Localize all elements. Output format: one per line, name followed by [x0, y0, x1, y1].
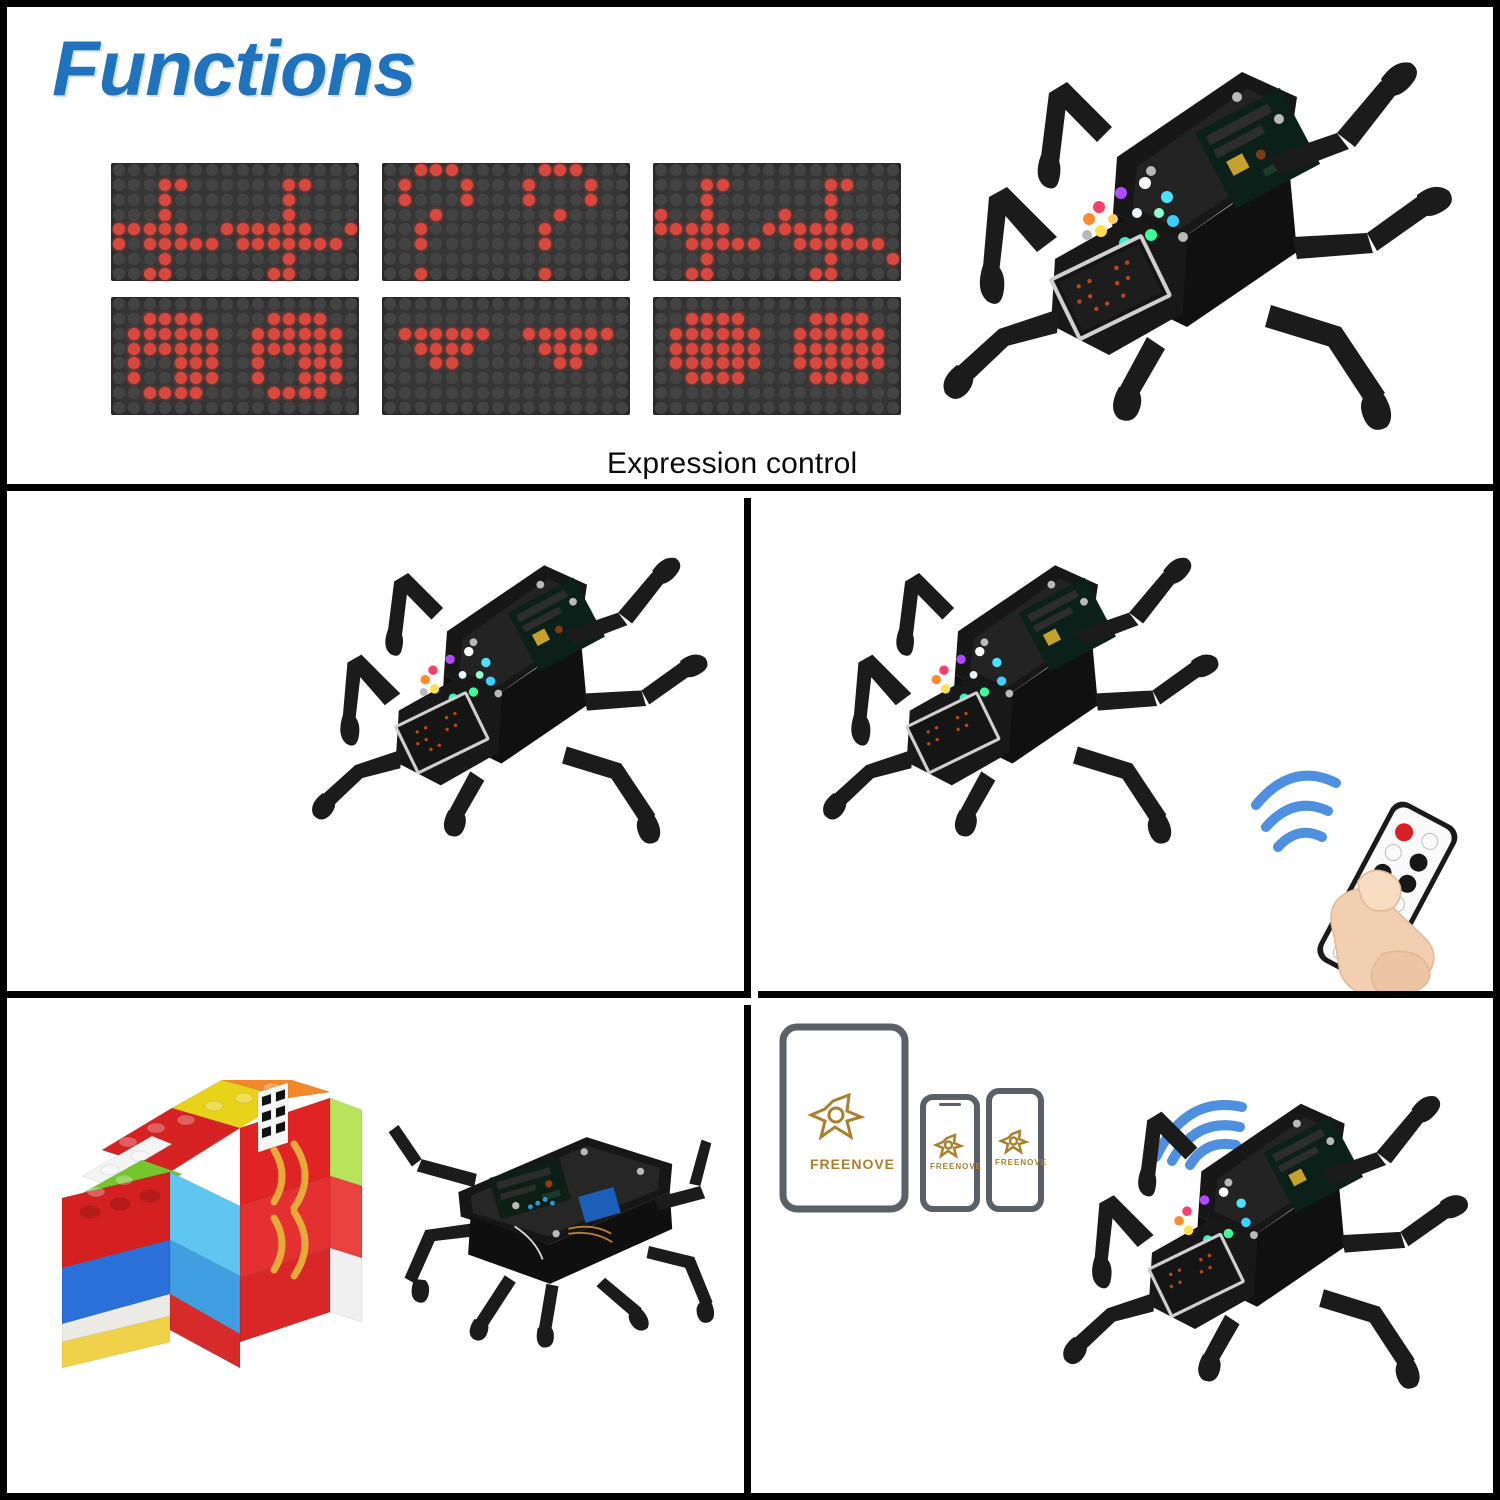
led-dot: [314, 313, 326, 325]
led-dot: [872, 253, 884, 265]
led-dot: [670, 328, 682, 340]
led-dot: [670, 194, 682, 206]
led-dot: [670, 387, 682, 399]
led-dot: [554, 372, 566, 384]
led-dot: [430, 194, 442, 206]
led-dot: [810, 238, 822, 250]
led-dot: [523, 298, 535, 310]
led-dot: [763, 194, 775, 206]
led-dot: [856, 253, 868, 265]
led-dot: [601, 313, 613, 325]
led-dot: [345, 238, 357, 250]
led-dot: [314, 343, 326, 355]
led-dot: [794, 402, 806, 414]
led-dot: [670, 343, 682, 355]
led-dot: [601, 238, 613, 250]
led-dot: [252, 268, 264, 280]
led-dot: [585, 209, 597, 221]
led-dot: [523, 402, 535, 414]
led-dot: [461, 194, 473, 206]
led-dot: [670, 253, 682, 265]
led-dot: [601, 298, 613, 310]
led-dot: [283, 298, 295, 310]
led-dot: [113, 357, 125, 369]
led-dot: [508, 164, 520, 176]
panel-obstacle-avoidance: Obstacle avoidance: [7, 1005, 751, 1493]
led-matrix-row: [111, 297, 359, 312]
led-dot: [616, 402, 628, 414]
led-matrix-row: [111, 327, 359, 342]
led-dot: [670, 209, 682, 221]
led-dot: [446, 194, 458, 206]
led-dot: [330, 238, 342, 250]
led-dot: [717, 253, 729, 265]
led-matrix-row: [653, 266, 901, 281]
led-dot: [585, 372, 597, 384]
led-dot: [252, 253, 264, 265]
led-dot: [701, 402, 713, 414]
led-dot: [175, 238, 187, 250]
led-dot: [446, 343, 458, 355]
led-matrix-row: [111, 400, 359, 415]
led-dot: [810, 372, 822, 384]
led-dot: [206, 268, 218, 280]
led-dot: [477, 343, 489, 355]
led-dot: [717, 268, 729, 280]
led-matrix-row: [382, 400, 630, 415]
led-dot: [190, 402, 202, 414]
led-dot: [701, 164, 713, 176]
led-dot: [872, 313, 884, 325]
led-dot: [585, 313, 597, 325]
led-dot: [159, 298, 171, 310]
led-dot: [430, 298, 442, 310]
led-dot: [399, 343, 411, 355]
led-dot: [237, 238, 249, 250]
led-dot: [144, 298, 156, 310]
led-dot: [461, 328, 473, 340]
led-dot: [477, 298, 489, 310]
led-dot: [252, 328, 264, 340]
led-dot: [523, 343, 535, 355]
led-dot: [144, 357, 156, 369]
led-dot: [206, 238, 218, 250]
led-dot: [221, 223, 233, 235]
led-dot: [461, 402, 473, 414]
led-matrix-grid: [111, 163, 901, 423]
led-dot: [523, 387, 535, 399]
led-dot: [779, 238, 791, 250]
led-dot: [554, 268, 566, 280]
led-dot: [554, 357, 566, 369]
led-dot: [492, 253, 504, 265]
led-dot: [794, 343, 806, 355]
led-dot: [717, 328, 729, 340]
led-dot: [221, 343, 233, 355]
led-dot: [601, 209, 613, 221]
led-dot: [686, 343, 698, 355]
led-dot: [570, 253, 582, 265]
led-dot: [144, 253, 156, 265]
led-dot: [268, 387, 280, 399]
led-dot: [717, 387, 729, 399]
led-dot: [237, 194, 249, 206]
led-dot: [523, 238, 535, 250]
led-matrix-row: [653, 178, 901, 193]
led-dot: [299, 268, 311, 280]
led-dot: [314, 372, 326, 384]
led-dot: [585, 253, 597, 265]
led-dot: [268, 313, 280, 325]
led-dot: [508, 223, 520, 235]
led-dot: [252, 223, 264, 235]
led-dot: [779, 209, 791, 221]
led-dot: [763, 343, 775, 355]
led-dot: [670, 164, 682, 176]
led-dot: [655, 194, 667, 206]
led-dot: [283, 343, 295, 355]
led-dot: [206, 402, 218, 414]
led-matrix-row: [653, 207, 901, 222]
led-dot: [159, 387, 171, 399]
led-dot: [508, 343, 520, 355]
led-dot: [841, 313, 853, 325]
led-dot: [446, 268, 458, 280]
led-dot: [190, 253, 202, 265]
led-dot: [779, 343, 791, 355]
led-matrix-row: [382, 163, 630, 178]
led-dot: [299, 253, 311, 265]
led-dot: [554, 328, 566, 340]
led-dot: [206, 223, 218, 235]
led-dot: [655, 328, 667, 340]
led-dot: [314, 328, 326, 340]
led-dot: [748, 179, 760, 191]
led-dot: [616, 343, 628, 355]
led-dot: [732, 223, 744, 235]
led-dot: [763, 387, 775, 399]
led-dot: [717, 313, 729, 325]
led-dot: [175, 298, 187, 310]
led-dot: [299, 164, 311, 176]
led-dot: [825, 268, 837, 280]
led-dot: [670, 357, 682, 369]
led-matrix-row: [653, 193, 901, 208]
led-dot: [190, 209, 202, 221]
led-dot: [748, 313, 760, 325]
led-dot: [701, 223, 713, 235]
led-matrix-row: [111, 163, 359, 178]
led-dot: [872, 328, 884, 340]
led-dot: [887, 209, 899, 221]
led-dot: [763, 298, 775, 310]
led-dot: [128, 164, 140, 176]
led-dot: [221, 298, 233, 310]
led-matrix-angry-eyes: [382, 297, 630, 415]
led-dot: [523, 223, 535, 235]
led-matrix-question-marks: [382, 163, 630, 281]
led-dot: [539, 179, 551, 191]
led-matrix-cross-eyes-1: [111, 163, 359, 281]
led-dot: [283, 179, 295, 191]
led-matrix-row: [653, 341, 901, 356]
led-dot: [492, 164, 504, 176]
led-dot: [430, 238, 442, 250]
led-matrix-row: [653, 163, 901, 178]
led-dot: [492, 402, 504, 414]
led-dot: [345, 223, 357, 235]
led-dot: [670, 268, 682, 280]
led-dot: [399, 164, 411, 176]
led-dot: [144, 209, 156, 221]
led-dot: [539, 298, 551, 310]
led-dot: [748, 194, 760, 206]
led-dot: [810, 223, 822, 235]
led-dot: [539, 194, 551, 206]
led-dot: [616, 313, 628, 325]
led-dot: [539, 343, 551, 355]
led-dot: [856, 194, 868, 206]
ultrasonic-wave-icon: [262, 1140, 342, 1280]
led-dot: [314, 194, 326, 206]
led-dot: [268, 268, 280, 280]
led-dot: [794, 328, 806, 340]
led-dot: [779, 298, 791, 310]
led-dot: [446, 223, 458, 235]
led-dot: [523, 313, 535, 325]
led-dot: [268, 238, 280, 250]
led-dot: [477, 357, 489, 369]
led-dot: [585, 194, 597, 206]
hexapod-robot-clients: [1058, 1065, 1488, 1445]
led-dot: [175, 402, 187, 414]
led-dot: [601, 164, 613, 176]
led-dot: [415, 372, 427, 384]
led-dot: [399, 209, 411, 221]
led-dot: [314, 209, 326, 221]
led-dot: [585, 268, 597, 280]
led-dot: [345, 253, 357, 265]
led-dot: [159, 238, 171, 250]
led-dot: [841, 253, 853, 265]
led-dot: [616, 268, 628, 280]
led-dot: [159, 209, 171, 221]
led-dot: [508, 387, 520, 399]
led-dot: [268, 223, 280, 235]
led-dot: [446, 253, 458, 265]
led-dot: [415, 164, 427, 176]
led-dot: [430, 209, 442, 221]
led-dot: [175, 387, 187, 399]
led-dot: [144, 179, 156, 191]
led-dot: [554, 164, 566, 176]
led-dot: [570, 209, 582, 221]
brand-text-tablet: FREENOVE: [810, 1156, 895, 1172]
led-dot: [570, 268, 582, 280]
led-dot: [539, 268, 551, 280]
led-dot: [283, 328, 295, 340]
led-dot: [872, 268, 884, 280]
led-dot: [670, 402, 682, 414]
led-dot: [345, 343, 357, 355]
led-dot: [430, 372, 442, 384]
led-dot: [492, 268, 504, 280]
led-dot: [399, 313, 411, 325]
led-dot: [492, 387, 504, 399]
led-dot: [144, 343, 156, 355]
led-dot: [585, 328, 597, 340]
led-dot: [570, 357, 582, 369]
led-dot: [717, 179, 729, 191]
led-dot: [399, 179, 411, 191]
led-dot: [763, 223, 775, 235]
led-dot: [268, 357, 280, 369]
led-dot: [128, 372, 140, 384]
led-dot: [461, 268, 473, 280]
led-dot: [299, 328, 311, 340]
led-dot: [128, 313, 140, 325]
led-dot: [330, 179, 342, 191]
led-dot: [585, 357, 597, 369]
led-matrix-row: [111, 341, 359, 356]
led-dot: [717, 357, 729, 369]
led-dot: [345, 298, 357, 310]
led-dot: [856, 223, 868, 235]
led-matrix-row: [111, 222, 359, 237]
led-dot: [794, 164, 806, 176]
led-dot: [748, 372, 760, 384]
led-dot: [825, 372, 837, 384]
led-dot: [175, 268, 187, 280]
led-dot: [539, 238, 551, 250]
led-dot: [856, 328, 868, 340]
led-dot: [508, 209, 520, 221]
led-dot: [794, 298, 806, 310]
led-dot: [430, 179, 442, 191]
led-dot: [128, 328, 140, 340]
led-dot: [732, 209, 744, 221]
led-dot: [732, 164, 744, 176]
led-dot: [763, 402, 775, 414]
led-dot: [175, 194, 187, 206]
led-dot: [492, 209, 504, 221]
led-dot: [477, 194, 489, 206]
led-dot: [330, 402, 342, 414]
led-dot: [585, 238, 597, 250]
led-dot: [841, 179, 853, 191]
led-matrix-row: [111, 207, 359, 222]
led-dot: [128, 253, 140, 265]
led-dot: [461, 372, 473, 384]
led-dot: [477, 223, 489, 235]
led-dot: [841, 357, 853, 369]
led-dot: [252, 402, 264, 414]
led-dot: [345, 194, 357, 206]
led-matrix-row: [111, 252, 359, 267]
led-dot: [585, 387, 597, 399]
led-dot: [384, 179, 396, 191]
led-dot: [539, 402, 551, 414]
led-dot: [701, 343, 713, 355]
led-dot: [655, 223, 667, 235]
ir-remote-in-hand: [1238, 753, 1493, 998]
led-dot: [856, 268, 868, 280]
led-dot: [252, 298, 264, 310]
led-dot: [779, 194, 791, 206]
led-dot: [717, 194, 729, 206]
led-dot: [461, 238, 473, 250]
led-dot: [268, 164, 280, 176]
led-dot: [175, 223, 187, 235]
led-dot: [616, 387, 628, 399]
led-matrix-row: [111, 237, 359, 252]
led-dot: [415, 268, 427, 280]
led-dot: [570, 223, 582, 235]
led-dot: [430, 253, 442, 265]
led-dot: [477, 372, 489, 384]
led-dot: [330, 223, 342, 235]
led-dot: [330, 328, 342, 340]
led-dot: [810, 328, 822, 340]
led-dot: [190, 343, 202, 355]
led-dot: [810, 209, 822, 221]
led-dot: [384, 402, 396, 414]
led-dot: [523, 372, 535, 384]
led-dot: [175, 328, 187, 340]
led-dot: [686, 164, 698, 176]
led-dot: [887, 179, 899, 191]
led-dot: [206, 357, 218, 369]
led-dot: [399, 194, 411, 206]
led-dot: [841, 343, 853, 355]
led-dot: [415, 223, 427, 235]
led-dot: [841, 268, 853, 280]
led-dot: [570, 313, 582, 325]
led-dot: [523, 209, 535, 221]
led-dot: [508, 253, 520, 265]
led-dot: [128, 223, 140, 235]
led-dot: [794, 223, 806, 235]
led-dot: [717, 223, 729, 235]
led-dot: [887, 387, 899, 399]
led-dot: [477, 164, 489, 176]
led-dot: [701, 194, 713, 206]
led-dot: [686, 223, 698, 235]
led-dot: [794, 372, 806, 384]
led-dot: [841, 209, 853, 221]
led-dot: [570, 387, 582, 399]
led-dot: [585, 402, 597, 414]
led-dot: [616, 357, 628, 369]
led-dot: [616, 372, 628, 384]
led-dot: [748, 343, 760, 355]
led-dot: [237, 343, 249, 355]
led-dot: [415, 194, 427, 206]
led-dot: [113, 298, 125, 310]
led-dot: [252, 372, 264, 384]
led-dot: [686, 209, 698, 221]
led-dot: [732, 372, 744, 384]
led-dot: [856, 164, 868, 176]
led-dot: [330, 357, 342, 369]
led-dot: [779, 164, 791, 176]
led-dot: [206, 209, 218, 221]
led-dot: [128, 357, 140, 369]
led-dot: [399, 268, 411, 280]
led-dot: [872, 223, 884, 235]
led-dot: [779, 253, 791, 265]
led-dot: [175, 313, 187, 325]
